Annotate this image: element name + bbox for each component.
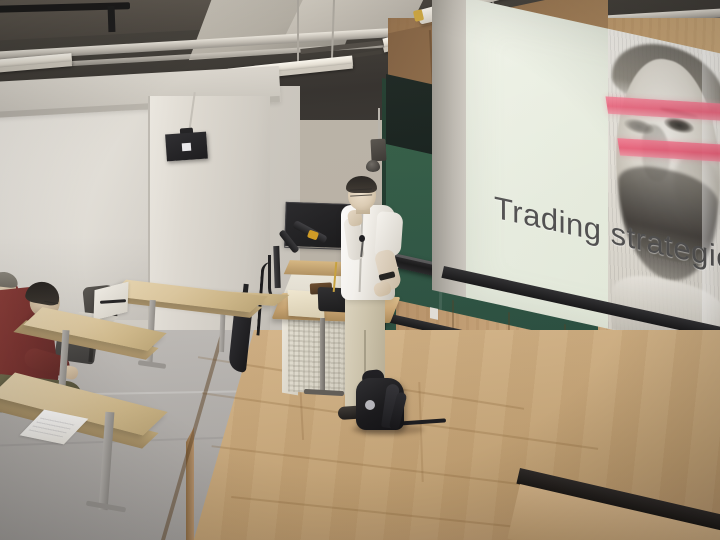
screen-border (432, 0, 468, 298)
lamp-rod (297, 0, 299, 64)
camera-dome-icon (366, 160, 380, 172)
portrait-light-streak (702, 49, 720, 353)
speaker-logo (182, 143, 192, 152)
lecture-hall-photo: Trading strategies (0, 0, 720, 540)
podium-pole (320, 318, 325, 394)
glasses-icon (350, 188, 372, 196)
backpack-logo (365, 400, 375, 410)
wall-outlet[interactable] (430, 307, 438, 320)
camera-mount-arm (378, 108, 380, 142)
ceiling-camera-icon (370, 139, 386, 162)
ceiling-beam-drop (108, 6, 116, 32)
